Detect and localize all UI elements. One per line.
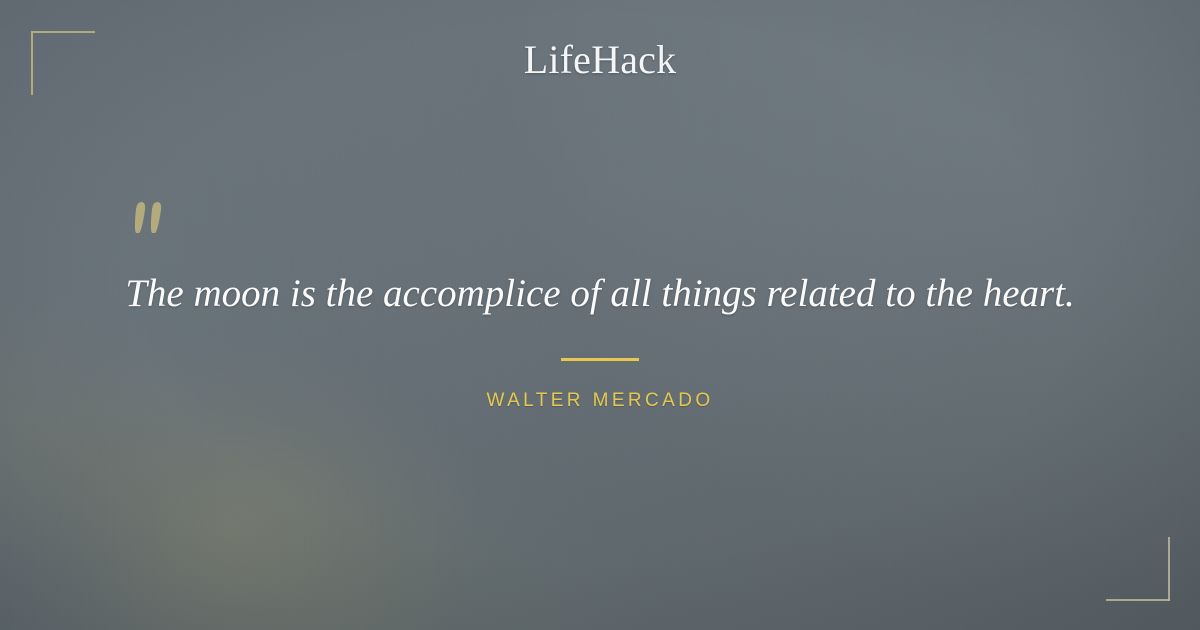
double-quote-icon-stroke-left bbox=[133, 202, 146, 233]
attribution-divider bbox=[561, 358, 639, 361]
corner-bracket-top-left-horizontal-rule bbox=[31, 31, 95, 33]
corner-bracket-bottom-right-horizontal-rule bbox=[1106, 599, 1170, 601]
double-quote-icon bbox=[134, 200, 174, 238]
brand-logo-lifehack: LifeHack bbox=[0, 38, 1200, 82]
corner-bracket-bottom-right-vertical-rule bbox=[1168, 537, 1170, 601]
corner-bracket-bottom-right-icon bbox=[1106, 537, 1170, 601]
quote-card: LifeHack The moon is the accomplice of a… bbox=[0, 0, 1200, 630]
quote-text: The moon is the accomplice of all things… bbox=[60, 268, 1140, 320]
quote-author: WALTER MERCADO bbox=[0, 389, 1200, 413]
double-quote-icon-stroke-right bbox=[149, 202, 162, 233]
